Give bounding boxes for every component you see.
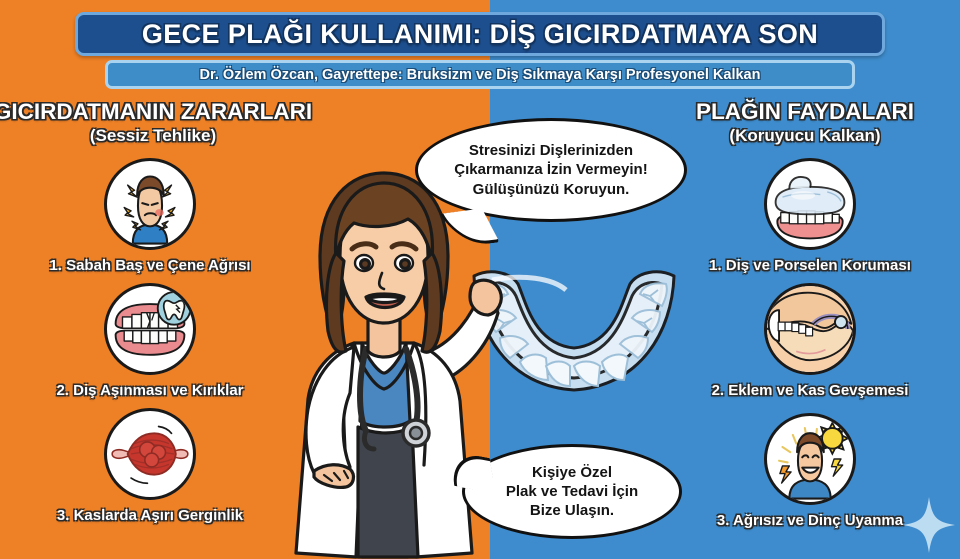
page-subtitle: Dr. Özlem Özcan, Gayrettepe: Bruksizm ve… bbox=[200, 67, 761, 83]
harm-item-3-caption: 3. Kaslarda Aşırı Gerginlik bbox=[0, 507, 300, 524]
speech-bubble-top-text: Stresinizi Dişlerinizden Çıkarmanıza İzi… bbox=[442, 141, 659, 199]
harm-item-1: 1. Sabah Baş ve Çene Ağrısı bbox=[0, 158, 300, 274]
benefit-item-1-caption: 1. Diş ve Porselen Koruması bbox=[660, 257, 960, 274]
benefit-item-2: 2. Eklem ve Kas Gevşemesi bbox=[660, 283, 960, 399]
speech-bubble-top: Stresinizi Dişlerinizden Çıkarmanıza İzi… bbox=[415, 118, 687, 222]
cracked-teeth-icon bbox=[104, 283, 196, 375]
happy-morning-icon bbox=[764, 413, 856, 505]
tense-muscle-icon bbox=[104, 408, 196, 500]
right-heading-main: PLAĞIN FAYDALARI bbox=[640, 100, 960, 124]
bubble-bottom-line-2: Plak ve Tedavi İçin bbox=[506, 482, 638, 501]
harm-item-3: 3. Kaslarda Aşırı Gerginlik bbox=[0, 408, 300, 524]
bubble-bottom-line-3: Bize Ulaşın. bbox=[506, 501, 638, 520]
bubble-top-line-1: Stresinizi Dişlerinizden bbox=[454, 141, 647, 160]
nightguard-on-teeth-icon bbox=[764, 158, 856, 250]
bubble-top-line-2: Çıkarmanıza İzin Vermeyin! bbox=[454, 160, 647, 179]
page-title: GECE PLAĞI KULLANIMI: DİŞ GICIRDATMAYA S… bbox=[142, 19, 818, 50]
benefit-item-2-caption: 2. Eklem ve Kas Gevşemesi bbox=[660, 382, 960, 399]
jaw-joint-icon bbox=[764, 283, 856, 375]
bubble-top-line-3: Gülüşünüzü Koruyun. bbox=[454, 180, 647, 199]
speech-bubble-bottom-text: Kişiye Özel Plak ve Tedavi İçin Bize Ula… bbox=[494, 463, 650, 521]
infographic-poster: GECE PLAĞI KULLANIMI: DİŞ GICIRDATMAYA S… bbox=[0, 0, 960, 559]
harm-item-2-caption: 2. Diş Aşınması ve Kırıklar bbox=[0, 382, 300, 399]
benefit-item-1: 1. Diş ve Porselen Koruması bbox=[660, 158, 960, 274]
speech-bubble-bottom: Kişiye Özel Plak ve Tedavi İçin Bize Ula… bbox=[462, 444, 682, 539]
left-column-heading: GICIRDATMANIN ZARARLARI (Sessiz Tehlike) bbox=[0, 100, 318, 146]
right-heading-sub: (Koruyucu Kalkan) bbox=[640, 125, 960, 146]
left-heading-sub: (Sessiz Tehlike) bbox=[0, 125, 318, 146]
sparkle-icon bbox=[903, 497, 955, 553]
harm-item-2: 2. Diş Aşınması ve Kırıklar bbox=[0, 283, 300, 399]
left-heading-main: GICIRDATMANIN ZARARLARI bbox=[0, 100, 318, 124]
right-column-heading: PLAĞIN FAYDALARI (Koruyucu Kalkan) bbox=[640, 100, 960, 146]
bubble-bottom-line-1: Kişiye Özel bbox=[506, 463, 638, 482]
harm-item-1-caption: 1. Sabah Baş ve Çene Ağrısı bbox=[0, 257, 300, 274]
title-bar: GECE PLAĞI KULLANIMI: DİŞ GICIRDATMAYA S… bbox=[75, 12, 885, 56]
subtitle-bar: Dr. Özlem Özcan, Gayrettepe: Bruksizm ve… bbox=[105, 60, 855, 89]
head-jaw-pain-icon bbox=[104, 158, 196, 250]
